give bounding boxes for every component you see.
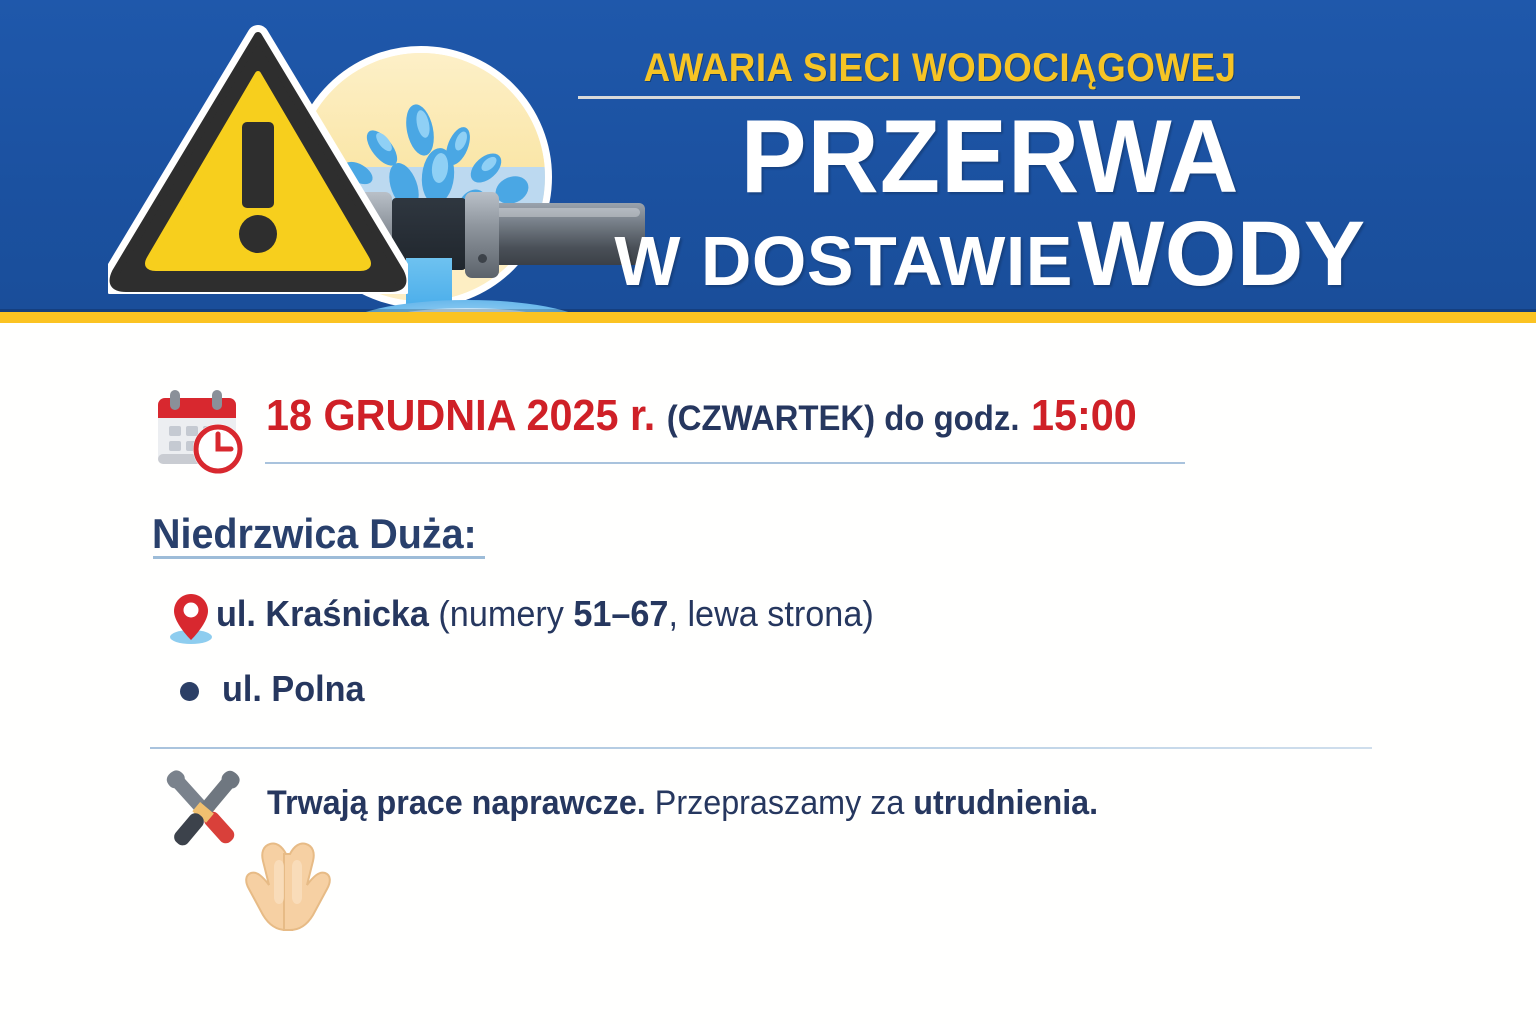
street-krasnicka-numbers: 51–67 (573, 593, 668, 634)
repair-notice-bold-1: Trwają prace naprawcze. (267, 784, 646, 822)
water-outage-poster: AWARIA SIECI WODOCIĄGOWEJ PRZERWA W DOST… (0, 0, 1536, 1024)
header-banner: AWARIA SIECI WODOCIĄGOWEJ PRZERWA W DOST… (0, 0, 1536, 312)
date-underline-rule (265, 462, 1185, 464)
pipe-flange-right (465, 192, 499, 278)
locality-heading: Niedrzwica Duża: (152, 510, 477, 558)
date-weekday-until: (CZWARTEK) do godz. (667, 399, 1020, 438)
warning-triangle-icon (108, 22, 408, 294)
banner-title-line1: PRZERWA (582, 105, 1399, 209)
street-krasnicka-detail-prefix: (numery (429, 593, 573, 634)
section-divider (150, 747, 1372, 749)
repair-notice-text: Trwają prace naprawcze. Przepraszamy za … (267, 786, 1098, 820)
locality-heading-rule (153, 556, 485, 559)
banner-title-line2: W DOSTAWIE WODY (540, 208, 1440, 300)
street-krasnicka-text: ul. Kraśnicka (numery 51–67, lewa strona… (216, 596, 874, 632)
banner-title-line2-large: WODY (1077, 203, 1365, 305)
map-pin-icon (168, 592, 214, 644)
street-krasnicka-name: ul. Kraśnicka (216, 593, 429, 634)
date-time: 15:00 (1031, 391, 1137, 440)
flange-bolt-right (478, 254, 487, 263)
repair-notice-regular: Przepraszamy za (646, 784, 913, 822)
banner-kicker: AWARIA SIECI WODOCIĄGOWEJ (590, 46, 1289, 91)
street-krasnicka-detail-suffix: , lewa strona) (668, 593, 873, 634)
street-polna-name: ul. Polna (222, 668, 365, 710)
banner-title-line2-small: W DOSTAWIE (614, 222, 1073, 300)
open-hands-icon (232, 838, 344, 934)
banner-accent-stripe (0, 312, 1536, 323)
calendar-clock-icon (150, 384, 248, 476)
bullet-dot-icon (180, 682, 199, 701)
outage-date-text: 18 GRUDNIA 2025 r. (CZWARTEK) do godz. 1… (266, 394, 1137, 438)
repair-notice-bold-2: utrudnienia. (913, 784, 1098, 822)
date-day-month-year: 18 GRUDNIA 2025 r. (266, 391, 655, 440)
